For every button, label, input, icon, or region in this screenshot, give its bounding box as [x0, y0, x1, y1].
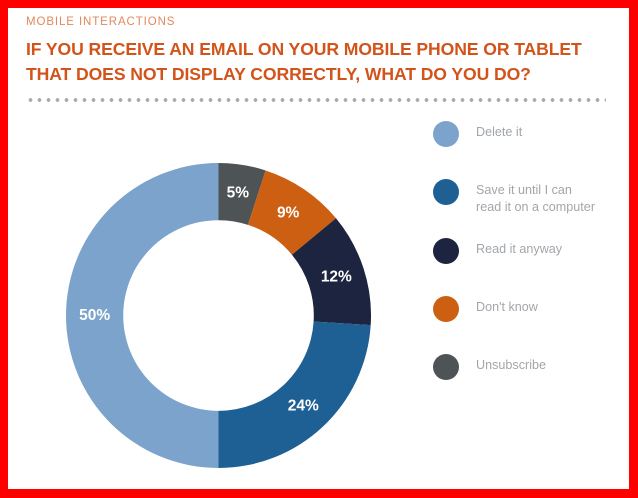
- legend-item-label: Delete it: [476, 120, 522, 141]
- donut-slice-label: 5%: [227, 185, 250, 202]
- header: MOBILE INTERACTIONS IF YOU RECEIVE AN EM…: [26, 16, 606, 87]
- chart-legend: Delete it Save it until I can read it on…: [433, 108, 629, 489]
- infographic-card: MOBILE INTERACTIONS IF YOU RECEIVE AN EM…: [0, 0, 638, 498]
- donut-chart-svg: 5%9%12%24%50%: [66, 163, 371, 468]
- legend-item-label: Unsubscribe: [476, 353, 546, 374]
- legend-item-label: Don't know: [476, 295, 538, 316]
- legend-swatch-icon: [433, 238, 459, 264]
- legend-swatch-icon: [433, 296, 459, 322]
- legend-item[interactable]: Don't know: [433, 295, 629, 322]
- donut-chart: 5%9%12%24%50%: [66, 163, 371, 468]
- donut-slice[interactable]: [219, 321, 371, 468]
- legend-item[interactable]: Save it until I can read it on a compute…: [433, 178, 629, 216]
- donut-slice-label: 9%: [277, 205, 300, 222]
- card-canvas: MOBILE INTERACTIONS IF YOU RECEIVE AN EM…: [8, 8, 629, 489]
- donut-slice-group: [66, 163, 371, 468]
- legend-swatch-icon: [433, 179, 459, 205]
- legend-item-label: Read it anyway: [476, 237, 562, 258]
- legend-swatch-icon: [433, 121, 459, 147]
- page-title: IF YOU RECEIVE AN EMAIL ON YOUR MOBILE P…: [26, 37, 604, 87]
- donut-slice-label: 50%: [79, 307, 110, 324]
- chart-area: 5%9%12%24%50%: [8, 108, 428, 489]
- legend-item-label: Save it until I can read it on a compute…: [476, 178, 595, 216]
- legend-item[interactable]: Unsubscribe: [433, 353, 629, 380]
- donut-slice-label: 12%: [321, 269, 352, 286]
- kicker-label: MOBILE INTERACTIONS: [26, 16, 606, 28]
- legend-item[interactable]: Read it anyway: [433, 237, 629, 264]
- legend-item[interactable]: Delete it: [433, 120, 629, 147]
- legend-swatch-icon: [433, 354, 459, 380]
- dotted-divider: [26, 96, 606, 104]
- donut-slice-label: 24%: [288, 397, 319, 414]
